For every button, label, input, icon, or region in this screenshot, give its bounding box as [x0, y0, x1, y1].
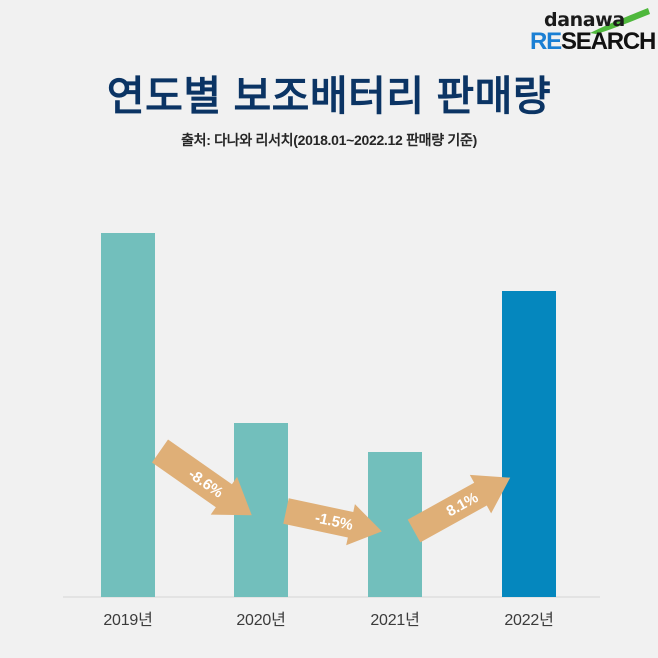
bar-2022 — [502, 291, 556, 597]
bar-chart-plot-area: 2019년 2020년 2021년 2022년 -8.6% -1.5% 8.1% — [0, 0, 658, 658]
x-axis-label-2019: 2019년 — [68, 606, 188, 630]
x-axis-label-2022: 2022년 — [469, 606, 589, 630]
x-axis-label-2020: 2020년 — [201, 606, 321, 630]
x-axis-label-2021: 2021년 — [335, 606, 455, 630]
bar-2019 — [101, 233, 155, 597]
chart-canvas: danawa RESEARCH 연도별 보조배터리 판매량 출처: 다나와 리서… — [0, 0, 658, 658]
